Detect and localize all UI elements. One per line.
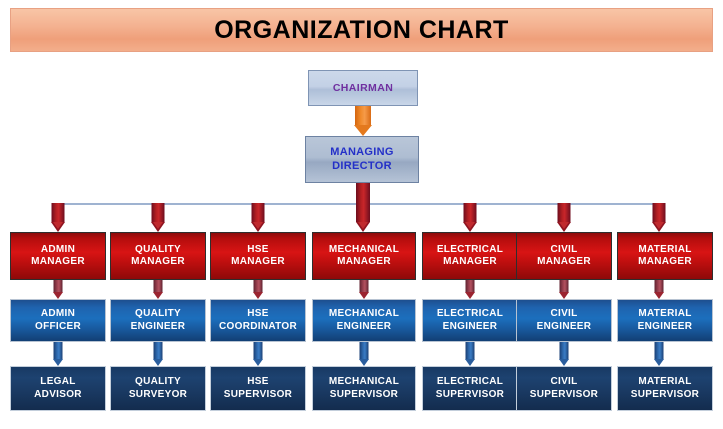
node-supervisor-electrical-line-2: SUPERVISOR (436, 389, 504, 401)
node-engineer-quality-line-2: ENGINEER (131, 321, 186, 333)
arrow-head (153, 292, 163, 299)
arrow-stem (463, 203, 476, 222)
arrow-bus-to-manager-quality (151, 203, 164, 232)
node-manager-mechanical[interactable]: MECHANICAL MANAGER (312, 232, 416, 280)
arrow-head (559, 359, 569, 366)
node-chairman-line-1: CHAIRMAN (333, 82, 393, 95)
arrow-engineer-to-supervisor-admin (53, 342, 62, 366)
node-supervisor-mechanical-line-1: MECHANICAL (329, 376, 399, 388)
node-manager-civil[interactable]: CIVIL MANAGER (516, 232, 612, 280)
arrow-manager-to-engineer-electrical (465, 280, 474, 299)
node-manager-material-line-2: MANAGER (638, 256, 692, 268)
arrow-head (253, 292, 263, 299)
node-manager-material-line-1: MATERIAL (638, 244, 691, 256)
node-managing-director-line-2: DIRECTOR (332, 160, 392, 173)
node-supervisor-mechanical[interactable]: MECHANICAL SUPERVISOR (312, 366, 416, 411)
node-chairman[interactable]: CHAIRMAN (308, 70, 418, 106)
arrow-manager-to-engineer-hse (253, 280, 262, 299)
arrow-head (359, 292, 369, 299)
node-engineer-civil[interactable]: CIVIL ENGINEER (516, 299, 612, 342)
page-title-banner: ORGANIZATION CHART (10, 8, 713, 52)
arrow-head (559, 292, 569, 299)
arrow-bus-to-manager-admin (51, 203, 64, 232)
arrow-head (253, 359, 263, 366)
arrow-head (151, 222, 165, 232)
node-engineer-electrical-line-1: ELECTRICAL (437, 308, 503, 320)
node-supervisor-admin-line-1: LEGAL (40, 376, 75, 388)
arrow-head (153, 359, 163, 366)
node-engineer-material-line-1: MATERIAL (638, 308, 691, 320)
arrow-bus-to-manager-electrical (463, 203, 476, 232)
node-supervisor-quality-surveyor[interactable]: QUALITY SURVEYOR (110, 366, 206, 411)
arrow-head (465, 359, 475, 366)
node-manager-civil-line-1: CIVIL (550, 244, 577, 256)
arrow-head (557, 222, 571, 232)
node-engineer-admin-line-1: ADMIN (41, 308, 75, 320)
node-manager-hse[interactable]: HSE MANAGER (210, 232, 306, 280)
node-engineer-hse-coordinator[interactable]: HSE COORDINATOR (210, 299, 306, 342)
arrow-head (53, 292, 63, 299)
node-manager-quality[interactable]: QUALITY MANAGER (110, 232, 206, 280)
node-engineer-electrical-line-2: ENGINEER (443, 321, 498, 333)
node-supervisor-electrical-line-1: ELECTRICAL (437, 376, 503, 388)
node-supervisor-legal-advisor[interactable]: LEGAL ADVISOR (10, 366, 106, 411)
arrow-stem (356, 183, 370, 222)
arrow-engineer-to-supervisor-quality (153, 342, 162, 366)
arrow-stem (253, 342, 262, 360)
node-manager-mechanical-line-1: MECHANICAL (329, 244, 399, 256)
node-supervisor-civil-line-1: CIVIL (550, 376, 577, 388)
arrow-stem (153, 342, 162, 360)
node-engineer-mechanical[interactable]: MECHANICAL ENGINEER (312, 299, 416, 342)
node-managing-director-line-1: MANAGING (330, 146, 394, 159)
page-title: ORGANIZATION CHART (214, 16, 509, 45)
arrow-head (359, 359, 369, 366)
arrow-manager-to-engineer-civil (559, 280, 568, 299)
node-supervisor-hse[interactable]: HSE SUPERVISOR (210, 366, 306, 411)
arrow-chairman-to-managing-director (355, 106, 371, 136)
node-manager-quality-line-1: QUALITY (135, 244, 181, 256)
node-engineer-mechanical-line-2: ENGINEER (337, 321, 392, 333)
arrow-engineer-to-supervisor-electrical (465, 342, 474, 366)
arrow-manager-to-engineer-quality (153, 280, 162, 299)
arrow-stem (557, 203, 570, 222)
arrow-manager-to-engineer-admin (53, 280, 62, 299)
arrow-head (53, 359, 63, 366)
arrow-stem (53, 342, 62, 360)
arrow-managing-director-to-manager-mechanical (356, 183, 370, 232)
arrow-head (51, 222, 65, 232)
node-supervisor-civil[interactable]: CIVIL SUPERVISOR (516, 366, 612, 411)
node-manager-mechanical-line-2: MANAGER (337, 256, 391, 268)
arrow-stem (654, 342, 663, 360)
node-manager-electrical-line-2: MANAGER (443, 256, 497, 268)
arrow-engineer-to-supervisor-mechanical (359, 342, 368, 366)
node-engineer-admin-line-2: OFFICER (35, 321, 81, 333)
node-supervisor-hse-line-1: HSE (247, 376, 268, 388)
node-engineer-civil-line-1: CIVIL (550, 308, 577, 320)
node-manager-civil-line-2: MANAGER (537, 256, 591, 268)
node-supervisor-quality-line-1: QUALITY (135, 376, 181, 388)
arrow-stem (652, 203, 665, 222)
node-engineer-quality-line-1: QUALITY (135, 308, 181, 320)
arrow-head (654, 292, 664, 299)
node-engineer-hse-line-1: HSE (247, 308, 268, 320)
node-manager-electrical[interactable]: ELECTRICAL MANAGER (422, 232, 518, 280)
node-supervisor-electrical[interactable]: ELECTRICAL SUPERVISOR (422, 366, 518, 411)
arrow-stem (359, 342, 368, 360)
node-engineer-hse-line-2: COORDINATOR (219, 321, 297, 333)
arrow-head (654, 359, 664, 366)
node-supervisor-mechanical-line-2: SUPERVISOR (330, 389, 398, 401)
arrow-engineer-to-supervisor-hse (253, 342, 262, 366)
arrow-bus-to-manager-hse (251, 203, 264, 232)
arrow-stem (51, 203, 64, 222)
node-supervisor-material-line-1: MATERIAL (638, 376, 691, 388)
node-manager-hse-line-2: MANAGER (231, 256, 285, 268)
arrow-engineer-to-supervisor-material (654, 342, 663, 366)
arrow-head (356, 222, 370, 232)
node-engineer-electrical[interactable]: ELECTRICAL ENGINEER (422, 299, 518, 342)
node-supervisor-material[interactable]: MATERIAL SUPERVISOR (617, 366, 713, 411)
arrow-stem (251, 203, 264, 222)
node-supervisor-civil-line-2: SUPERVISOR (530, 389, 598, 401)
arrow-head (465, 292, 475, 299)
node-engineer-civil-line-2: ENGINEER (537, 321, 592, 333)
node-manager-electrical-line-1: ELECTRICAL (437, 244, 503, 256)
node-engineer-admin-officer[interactable]: ADMIN OFFICER (10, 299, 106, 342)
node-engineer-quality[interactable]: QUALITY ENGINEER (110, 299, 206, 342)
arrow-stem (465, 342, 474, 360)
node-supervisor-hse-line-2: SUPERVISOR (224, 389, 292, 401)
node-engineer-material[interactable]: MATERIAL ENGINEER (617, 299, 713, 342)
node-manager-hse-line-1: HSE (247, 244, 268, 256)
node-engineer-material-line-2: ENGINEER (638, 321, 693, 333)
node-manager-admin-line-1: ADMIN (41, 244, 75, 256)
arrow-stem (151, 203, 164, 222)
arrow-bus-to-manager-civil (557, 203, 570, 232)
node-manager-material[interactable]: MATERIAL MANAGER (617, 232, 713, 280)
arrow-head (463, 222, 477, 232)
node-manager-admin-line-2: MANAGER (31, 256, 85, 268)
arrow-manager-to-engineer-mechanical (359, 280, 368, 299)
arrow-head (652, 222, 666, 232)
node-engineer-mechanical-line-1: MECHANICAL (329, 308, 399, 320)
node-supervisor-material-line-2: SUPERVISOR (631, 389, 699, 401)
node-supervisor-admin-line-2: ADVISOR (34, 389, 82, 401)
arrow-engineer-to-supervisor-civil (559, 342, 568, 366)
node-manager-admin[interactable]: ADMIN MANAGER (10, 232, 106, 280)
arrow-manager-to-engineer-material (654, 280, 663, 299)
node-managing-director[interactable]: MANAGING DIRECTOR (305, 136, 419, 183)
arrow-head (251, 222, 265, 232)
arrow-head (354, 125, 372, 136)
node-manager-quality-line-2: MANAGER (131, 256, 185, 268)
arrow-stem (559, 342, 568, 360)
arrow-bus-to-manager-material (652, 203, 665, 232)
arrow-stem (355, 106, 371, 126)
node-supervisor-quality-line-2: SURVEYOR (129, 389, 187, 401)
